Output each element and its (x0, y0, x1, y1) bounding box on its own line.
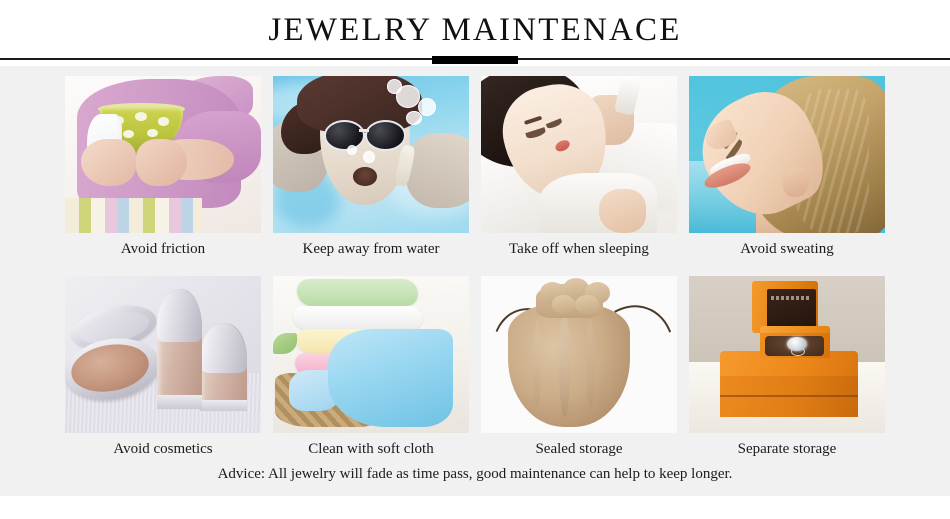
foundation-base-small (200, 400, 247, 411)
swimmer-right-shoulder (406, 133, 469, 208)
ring-box-brand-text (771, 296, 808, 300)
advice-text: Advice: All jewelry will fade as time pa… (0, 466, 950, 483)
tip-card-avoid-sweating: Avoid sweating (689, 76, 885, 258)
sunglasses-right-lens (365, 120, 406, 151)
title-underline-accent (432, 56, 518, 64)
tips-panel: Avoid friction (0, 66, 950, 496)
pouch-ruffle (575, 295, 599, 314)
sleeper-hand (599, 189, 646, 233)
tip-caption: Sealed storage (481, 441, 677, 458)
tip-caption: Take off when sleeping (481, 241, 677, 258)
avoid-friction-image (65, 76, 261, 233)
page-title: JEWELRY MAINTENACE (0, 12, 950, 49)
tip-card-take-off-when-sleeping: Take off when sleeping (481, 76, 677, 258)
friction-right-hand (136, 139, 187, 186)
pouch-body (508, 304, 630, 426)
sunglasses-bridge (359, 129, 369, 132)
air-bubble (406, 111, 422, 126)
air-bubble (363, 151, 375, 162)
air-bubble (387, 79, 403, 94)
tips-row-1: Avoid friction (65, 76, 885, 258)
tip-caption: Avoid friction (65, 241, 261, 258)
tip-caption: Avoid cosmetics (65, 441, 261, 458)
sweating-ear (783, 167, 808, 197)
air-bubble (418, 98, 436, 116)
jewelry-maintenance-infographic: JEWELRY MAINTENACE (0, 0, 950, 519)
tip-card-keep-away-from-water: Keep away from water (273, 76, 469, 258)
towel-blue-draped (328, 329, 453, 426)
tip-card-clean-with-soft-cloth: Clean with soft cloth (273, 276, 469, 458)
sunglasses-left-lens (324, 120, 365, 151)
pouch-ruffle (552, 295, 576, 314)
keep-away-from-water-image (273, 76, 469, 233)
friction-striped-apron (65, 198, 202, 233)
tips-row-2: Avoid cosmetics Clean with soft cloth (65, 276, 885, 458)
sealed-storage-image (481, 276, 677, 433)
tip-card-sealed-storage: Sealed storage (481, 276, 677, 458)
towel-green (297, 279, 419, 306)
clean-with-soft-cloth-image (273, 276, 469, 433)
avoid-cosmetics-image (65, 276, 261, 433)
tip-card-separate-storage: Separate storage (689, 276, 885, 458)
tip-caption: Clean with soft cloth (273, 441, 469, 458)
tip-caption: Avoid sweating (689, 241, 885, 258)
tip-caption: Separate storage (689, 441, 885, 458)
ring-box-lid-lining (767, 289, 816, 328)
friction-left-hand (81, 139, 136, 186)
avoid-sweating-image (689, 76, 885, 233)
swimmer-mouth (353, 167, 377, 186)
tip-card-avoid-cosmetics: Avoid cosmetics (65, 276, 261, 458)
tip-card-avoid-friction: Avoid friction (65, 76, 261, 258)
take-off-when-sleeping-image (481, 76, 677, 233)
tip-caption: Keep away from water (273, 241, 469, 258)
header: JEWELRY MAINTENACE (0, 0, 950, 66)
towel-white (293, 306, 422, 330)
large-box-seam (720, 395, 857, 397)
separate-storage-image (689, 276, 885, 433)
foundation-base-tall (157, 395, 202, 409)
ring-band (791, 347, 805, 357)
